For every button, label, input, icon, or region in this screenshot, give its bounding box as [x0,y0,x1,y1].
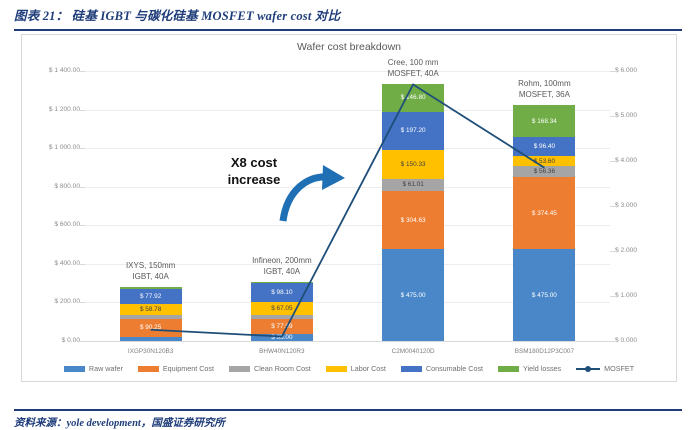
bar-part-number: BSM180D12P3C007 [515,348,574,355]
legend-item-mosfet[interactable]: MOSFET [576,364,634,373]
bar-segment[interactable]: $ 90.25 [120,319,182,336]
bar-segment[interactable]: $ 475.00 [382,249,444,341]
stacked-bar[interactable]: $ 475.00$ 374.45$ 56.36$ 53.60$ 96.40$ 1… [513,105,575,341]
gridline [85,71,610,72]
y-axis-right-tick-mark [610,71,617,72]
bar-segment[interactable] [251,315,313,319]
bar-segment[interactable]: $ 304.63 [382,191,444,250]
y-axis-right-tick-mark [610,116,617,117]
y-axis-right-tick: $ 4.000 [615,157,637,165]
stacked-bar[interactable]: $ 475.00$ 304.63$ 61.01$ 150.33$ 197.20$… [382,84,444,341]
y-axis-left-tick-mark [78,148,85,149]
y-axis-left-tick-mark [78,110,85,111]
y-axis-left-tick: $ 200.00 [54,298,80,306]
legend-label: Yield losses [523,364,561,373]
y-axis-left-tick-mark [78,264,85,265]
legend-label: Consumable Cost [426,364,483,373]
footer-divider [14,409,682,411]
y-axis-right-tick: $ 2.000 [615,247,637,255]
y-axis-right-tick-mark [610,206,617,207]
bar-part-number: BHW40N120R3 [259,348,304,355]
legend-label: Equipment Cost [163,364,214,373]
bar-segment[interactable]: $ 197.20 [382,112,444,150]
bar-category-label-line: Rohm, 100mm [518,78,570,89]
legend-label: MOSFET [604,364,634,373]
y-axis-left-tick-mark [78,225,85,226]
header-divider [14,29,682,31]
y-axis-left-tick-mark [78,302,85,303]
plot-area: $ 0.00$ 200.00$ 400.00$ 600.00$ 800.00$ … [85,71,610,341]
bar-segment[interactable] [120,315,182,319]
y-axis-right-tick: $ 0.000 [615,337,637,345]
chart-legend: Raw waferEquipment CostClean Room CostLa… [22,364,676,373]
curved-arrow-icon [277,165,347,227]
bar-category-label-line: Cree, 100 mm [388,57,439,68]
bar-segment[interactable] [251,282,313,283]
legend-swatch [326,366,347,372]
bar-category-label-line: MOSFET, 40A [388,68,439,79]
y-axis-right-tick: $ 5.000 [615,112,637,120]
legend-item[interactable]: Equipment Cost [138,364,214,373]
y-axis-right-tick-mark [610,161,617,162]
chart-title: Wafer cost breakdown [22,41,676,53]
bar-segment[interactable]: $ 61.01 [382,179,444,191]
y-axis-left-tick-mark [78,187,85,188]
bar-segment[interactable]: $ 58.78 [120,304,182,315]
bar-category-label: IXYS, 150mmIGBT, 40A [126,260,175,282]
legend-item[interactable]: Yield losses [498,364,561,373]
annotation-line-2: increase [228,172,281,187]
bar-category-label-line: IGBT, 40A [252,266,312,277]
y-axis-left-tick-mark [78,341,85,342]
y-axis-right-tick-mark [610,296,617,297]
bar-category-label-line: MOSFET, 36A [518,89,570,100]
annotation-line-1: X8 cost [231,155,277,170]
y-axis-right-tick: $ 1.000 [615,292,637,300]
bar-segment[interactable]: $ 53.60 [513,156,575,166]
y-axis-right-tick: $ 3.000 [615,202,637,210]
bar-category-label: Infineon, 200mmIGBT, 40A [252,255,312,277]
legend-item[interactable]: Clean Room Cost [229,364,311,373]
bar-segment[interactable]: $ 67.05 [251,302,313,315]
bar-category-label-line: Infineon, 200mm [252,255,312,266]
bar-category-label: Cree, 100 mmMOSFET, 40A [388,57,439,79]
legend-item[interactable]: Labor Cost [326,364,386,373]
bar-part-number: IXGP30N120B3 [128,348,173,355]
legend-swatch [138,366,159,372]
bar-segment[interactable]: $ 35.00 [251,334,313,341]
legend-swatch [401,366,422,372]
bar-segment[interactable]: $ 98.10 [251,283,313,302]
y-axis-left-tick: $ 1 200.00 [49,106,80,114]
gridline [85,341,610,342]
bar-segment[interactable]: $ 77.99 [251,319,313,334]
legend-label: Labor Cost [351,364,386,373]
bar-segment[interactable] [120,287,182,288]
bar-segment[interactable]: $ 77.92 [120,289,182,304]
legend-label: Raw wafer [89,364,123,373]
y-axis-left-tick: $ 800.00 [54,183,80,191]
y-axis-right-tick-mark [610,251,617,252]
bar-segment[interactable]: $ 146.80 [382,84,444,112]
stacked-bar[interactable]: $ 90.25$ 58.78$ 77.92 [120,287,182,341]
y-axis-left-tick: $ 1 400.00 [49,67,80,75]
bar-part-number: C2M0040120D [392,348,435,355]
source-note: 资料来源：yole development，国盛证券研究所 [14,415,225,430]
bar-category-label-line: IXYS, 150mm [126,260,175,271]
bar-category-label: Rohm, 100mmMOSFET, 36A [518,78,570,100]
legend-swatch [498,366,519,372]
bar-segment[interactable]: $ 374.45 [513,177,575,249]
bar-segment[interactable]: $ 150.33 [382,150,444,179]
figure-title: 图表 21： 硅基 IGBT 与碳化硅基 MOSFET wafer cost 对… [14,6,682,26]
y-axis-right-tick: $ 6.000 [615,67,637,75]
legend-item[interactable]: Raw wafer [64,364,123,373]
legend-swatch [64,366,85,372]
bar-segment[interactable]: $ 56.36 [513,166,575,177]
y-axis-left-tick: $ 600.00 [54,221,80,229]
legend-swatch [229,366,250,372]
y-axis-left-tick: $ 1 000.00 [49,144,80,152]
y-axis-left-tick: $ 400.00 [54,260,80,268]
legend-line-marker [576,365,600,373]
legend-item[interactable]: Consumable Cost [401,364,483,373]
bar-segment[interactable]: $ 168.34 [513,105,575,137]
mosfet-line [151,85,545,337]
stacked-bar[interactable]: $ 35.00$ 77.99$ 67.05$ 98.10 [251,282,313,341]
figure-header: 图表 21： 硅基 IGBT 与碳化硅基 MOSFET wafer cost 对… [14,6,682,36]
y-axis-left-tick-mark [78,71,85,72]
bar-segment[interactable]: $ 96.40 [513,137,575,156]
chart-container: Wafer cost breakdown $ 0.00$ 200.00$ 400… [21,34,677,382]
bar-category-label-line: IGBT, 40A [126,271,175,282]
bar-segment[interactable] [120,337,182,341]
y-axis-right-tick-mark [610,341,617,342]
legend-label: Clean Room Cost [254,364,311,373]
bar-segment[interactable]: $ 475.00 [513,249,575,341]
